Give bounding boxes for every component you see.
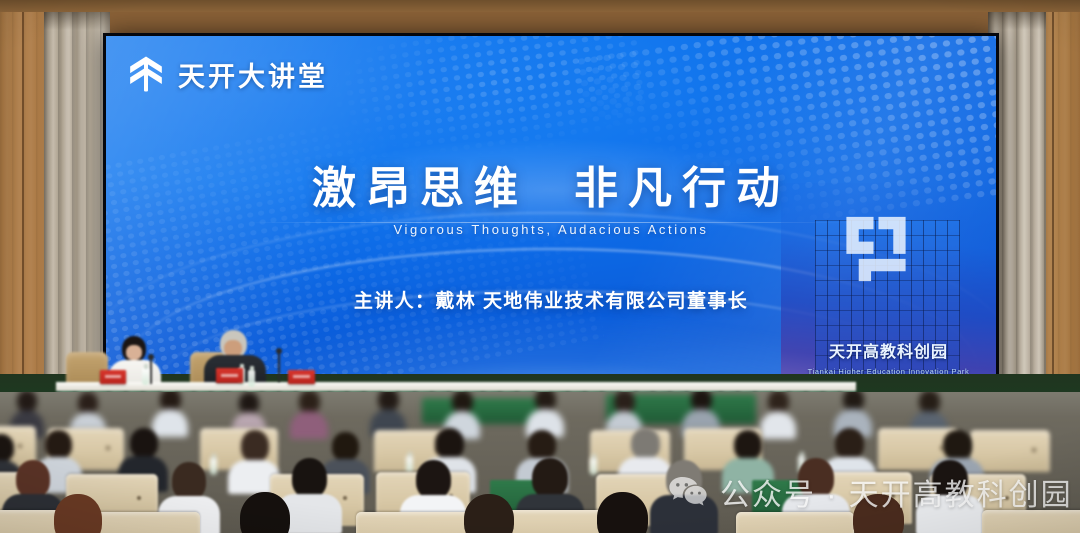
- audience-person: [444, 494, 536, 533]
- tiankai-park-building-logo-icon: [839, 209, 913, 289]
- slide-headline-part-1: 激昂思维: [312, 164, 528, 213]
- person-face: [126, 345, 142, 360]
- name-card: [288, 370, 315, 384]
- name-card: [100, 370, 126, 384]
- audience-person: [36, 494, 122, 533]
- slide-brand-lockup: 天开大讲堂: [126, 54, 328, 94]
- audience-person: [576, 492, 670, 533]
- park-name-cn: 天开高教科创园: [781, 338, 996, 362]
- park-branding-panel: 天开高教科创园 Tiankai Higher Education Innovat…: [781, 183, 996, 398]
- wechat-icon: [668, 475, 708, 509]
- slide-headline-part-2: 非凡行动: [574, 164, 790, 213]
- slide-brand-name: 天开大讲堂: [178, 55, 328, 94]
- audience-person: [220, 492, 312, 533]
- tiankai-arrow-logo-icon: [126, 54, 166, 94]
- ceiling-trim: [0, 0, 1080, 12]
- water-bottle: [248, 370, 255, 387]
- microphone: [278, 352, 280, 382]
- watermark-text: 公众号 · 天开高教科创园: [720, 470, 1073, 514]
- water-bottle: [142, 368, 149, 385]
- photo-scene: 天开大讲堂 激昂思维非凡行动 Vigorous Thoughts, Audaci…: [0, 0, 1080, 533]
- wechat-watermark: 公众号 · 天开高教科创园: [668, 470, 1073, 514]
- name-card: [216, 368, 243, 383]
- table-top: [56, 382, 856, 391]
- microphone: [150, 358, 152, 384]
